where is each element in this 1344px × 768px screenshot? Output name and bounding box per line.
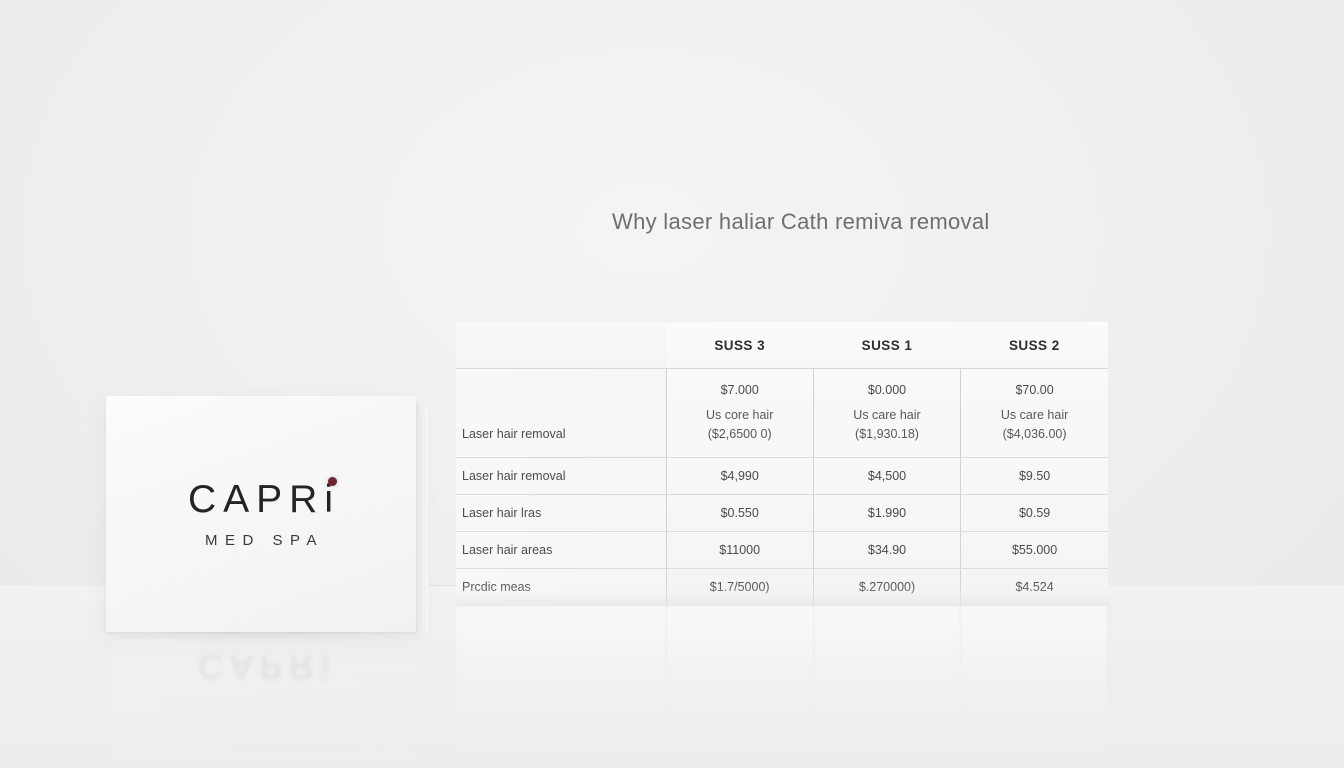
column-header-suss-2: SUSS 2	[961, 322, 1108, 369]
brand-dot-icon	[328, 477, 337, 486]
cell-note: Us care hair	[969, 406, 1100, 425]
cell-note: Us core hair	[675, 406, 805, 425]
cell-secondary: ($1,930.18)	[822, 425, 952, 443]
table-cell: $0.550	[666, 495, 813, 532]
table-cell: $4,500	[813, 458, 960, 495]
table-cell: $55.000	[961, 532, 1108, 569]
cell-price: $0.000	[822, 381, 952, 399]
row-label: Laser hair areas	[456, 532, 666, 569]
cell-price: $7.000	[675, 381, 805, 399]
table-row: Laser hair removal $4,990 $4,500 $9.50	[456, 458, 1108, 495]
table-header-row: SUSS 3 SUSS 1 SUSS 2	[456, 322, 1108, 369]
table-cell: $34.90	[813, 532, 960, 569]
table-row: Laser hair removal $7.000 Us core hair (…	[456, 369, 1108, 458]
column-header-label	[456, 322, 666, 369]
brand-logo-text: CAPRi	[188, 478, 340, 521]
table-cell: $1.990	[813, 495, 960, 532]
row-label: Laser hair removal	[456, 458, 666, 495]
brand-card-face: CAPRi MED SPA	[106, 396, 416, 632]
pricing-table-wrapper: SUSS 3 SUSS 1 SUSS 2 Laser hair removal …	[456, 322, 1108, 606]
cell-secondary: ($2,6500 0)	[675, 425, 805, 443]
page-title: Why laser haliar Cath remiva removal	[612, 209, 1232, 235]
cell-secondary: ($4,036.00)	[969, 425, 1100, 443]
table-row: Laser hair lras $0.550 $1.990 $0.59	[456, 495, 1108, 532]
row-label: Laser hair removal	[456, 369, 666, 458]
column-header-suss-3: SUSS 3	[666, 322, 813, 369]
pricing-table-head: SUSS 3 SUSS 1 SUSS 2	[456, 322, 1108, 369]
pricing-table-reflection	[456, 606, 1108, 756]
table-row: Laser hair areas $11000 $34.90 $55.000	[456, 532, 1108, 569]
brand-logo-wordmark: CAPRi	[182, 480, 340, 519]
table-cell: $0.59	[961, 495, 1108, 532]
row-label: Laser hair lras	[456, 495, 666, 532]
cell-note: Us care hair	[822, 406, 952, 425]
brand-tagline: MED SPA	[198, 532, 324, 549]
pricing-table-body: Laser hair removal $7.000 Us core hair (…	[456, 369, 1108, 606]
pricing-table: SUSS 3 SUSS 1 SUSS 2 Laser hair removal …	[456, 322, 1108, 606]
column-header-suss-1: SUSS 1	[813, 322, 960, 369]
table-cell: $9.50	[961, 458, 1108, 495]
table-cell: $70.00 Us care hair ($4,036.00)	[961, 369, 1108, 458]
table-cell: $11000	[666, 532, 813, 569]
table-cell: $7.000 Us core hair ($2,6500 0)	[666, 369, 813, 458]
cell-price: $70.00	[969, 381, 1100, 399]
table-cell: $0.000 Us care hair ($1,930.18)	[813, 369, 960, 458]
table-cell: $4,990	[666, 458, 813, 495]
brand-card: CAPRi MED SPA CAPRi	[106, 396, 428, 636]
scene: CAPRi MED SPA CAPRi Why laser haliar Cat…	[0, 0, 1344, 768]
brand-logo-reflection: CAPRi	[106, 646, 428, 685]
